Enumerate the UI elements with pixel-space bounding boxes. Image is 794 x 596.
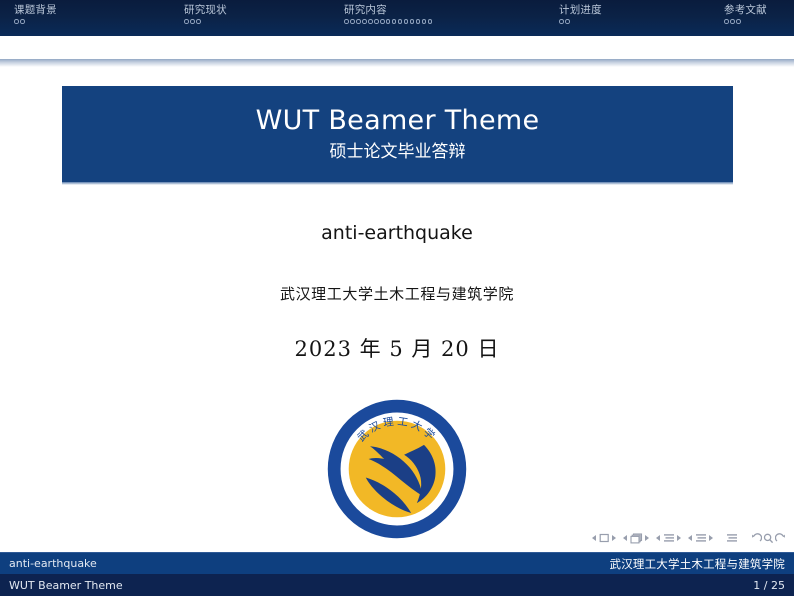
nav-section-slide-dots[interactable] bbox=[184, 19, 201, 24]
nav-section-slide-dots[interactable] bbox=[344, 19, 432, 24]
nav-section-label: 课题背景 bbox=[14, 4, 57, 17]
slide-icon[interactable] bbox=[599, 533, 610, 543]
footer-page-number: 1 / 25 bbox=[753, 579, 785, 592]
nav-section-slide-dots[interactable] bbox=[559, 19, 570, 24]
nav-slide-dot[interactable] bbox=[362, 19, 367, 24]
title-block-shadow bbox=[62, 182, 733, 185]
nav-slide-dot[interactable] bbox=[380, 19, 385, 24]
forward-icon[interactable] bbox=[775, 533, 786, 544]
nav-slide-dot[interactable] bbox=[422, 19, 427, 24]
subsection-prev-icon[interactable] bbox=[656, 535, 660, 541]
institute-name: 武汉理工大学土木工程与建筑学院 bbox=[0, 283, 794, 304]
page-title: WUT Beamer Theme bbox=[256, 104, 540, 138]
nav-slide-dot[interactable] bbox=[410, 19, 415, 24]
section-navigation-bar[interactable]: 课题背景研究现状研究内容计划进度参考文献 bbox=[0, 0, 794, 36]
slide-next-icon[interactable] bbox=[612, 535, 616, 541]
frame-icon[interactable] bbox=[630, 533, 643, 544]
nav-slide-dot[interactable] bbox=[404, 19, 409, 24]
frame-nav-group[interactable] bbox=[623, 533, 649, 544]
back-icon[interactable] bbox=[751, 533, 762, 544]
nav-slide-dot[interactable] bbox=[14, 19, 19, 24]
slide-prev-icon[interactable] bbox=[592, 535, 596, 541]
nav-slide-dot[interactable] bbox=[428, 19, 433, 24]
university-logo: 武汉理工大学 WUHAN UNIVERSITY OF TECHNOLOGY bbox=[326, 398, 468, 540]
search-icon[interactable] bbox=[763, 533, 774, 544]
presentation-icon[interactable] bbox=[726, 533, 738, 544]
nav-section-references[interactable]: 参考文献 bbox=[710, 4, 794, 24]
nav-section-label: 计划进度 bbox=[559, 4, 602, 17]
author-name: anti-earthquake bbox=[0, 222, 794, 244]
nav-slide-dot[interactable] bbox=[386, 19, 391, 24]
nav-slide-dot[interactable] bbox=[350, 19, 355, 24]
frame-prev-icon[interactable] bbox=[623, 535, 627, 541]
nav-slide-dot[interactable] bbox=[559, 19, 564, 24]
presentation-date: 2023 年 5 月 20 日 bbox=[0, 333, 794, 363]
beamer-navigation-symbols[interactable] bbox=[592, 528, 786, 548]
nav-section-label: 研究现状 bbox=[184, 4, 227, 17]
nav-slide-dot[interactable] bbox=[398, 19, 403, 24]
section-icon[interactable] bbox=[695, 533, 707, 544]
slide-nav-group[interactable] bbox=[592, 533, 616, 543]
nav-slide-dot[interactable] bbox=[190, 19, 195, 24]
nav-slide-dot[interactable] bbox=[344, 19, 349, 24]
nav-section-status[interactable]: 研究现状 bbox=[170, 4, 330, 24]
nav-section-schedule[interactable]: 计划进度 bbox=[545, 4, 710, 24]
nav-slide-dot[interactable] bbox=[730, 19, 735, 24]
nav-slide-dot[interactable] bbox=[736, 19, 741, 24]
header-blue-band bbox=[0, 36, 794, 59]
nav-slide-dot[interactable] bbox=[356, 19, 361, 24]
subsection-next-icon[interactable] bbox=[677, 535, 681, 541]
footer-author: anti-earthquake bbox=[9, 557, 97, 570]
nav-slide-dot[interactable] bbox=[392, 19, 397, 24]
section-next-icon[interactable] bbox=[709, 535, 713, 541]
nav-section-label: 研究内容 bbox=[344, 4, 387, 17]
nav-section-slide-dots[interactable] bbox=[14, 19, 25, 24]
footer-title: WUT Beamer Theme bbox=[9, 579, 123, 592]
nav-slide-dot[interactable] bbox=[184, 19, 189, 24]
nav-slide-dot[interactable] bbox=[416, 19, 421, 24]
nav-slide-dot[interactable] bbox=[20, 19, 25, 24]
header-fade-strip bbox=[0, 59, 794, 67]
nav-slide-dot[interactable] bbox=[374, 19, 379, 24]
nav-section-content[interactable]: 研究内容 bbox=[330, 4, 545, 24]
footer-row-title: WUT Beamer Theme 1 / 25 bbox=[0, 574, 794, 596]
history-nav-group[interactable] bbox=[751, 533, 786, 544]
nav-slide-dot[interactable] bbox=[196, 19, 201, 24]
nav-slide-dot[interactable] bbox=[368, 19, 373, 24]
nav-section-background[interactable]: 课题背景 bbox=[0, 4, 170, 24]
subsection-icon[interactable] bbox=[663, 533, 675, 544]
nav-slide-dot[interactable] bbox=[724, 19, 729, 24]
footer-row-author: anti-earthquake 武汉理工大学土木工程与建筑学院 bbox=[0, 553, 794, 574]
nav-section-slide-dots[interactable] bbox=[724, 19, 741, 24]
section-nav-group[interactable] bbox=[688, 533, 713, 544]
page-subtitle: 硕士论文毕业答辩 bbox=[330, 140, 466, 164]
nav-slide-dot[interactable] bbox=[565, 19, 570, 24]
subsection-nav-group[interactable] bbox=[656, 533, 681, 544]
title-block: WUT Beamer Theme 硕士论文毕业答辩 bbox=[62, 86, 733, 182]
frame-next-icon[interactable] bbox=[645, 535, 649, 541]
footer-institute: 武汉理工大学土木工程与建筑学院 bbox=[610, 556, 786, 572]
nav-section-label: 参考文献 bbox=[724, 4, 767, 17]
section-prev-icon[interactable] bbox=[688, 535, 692, 541]
